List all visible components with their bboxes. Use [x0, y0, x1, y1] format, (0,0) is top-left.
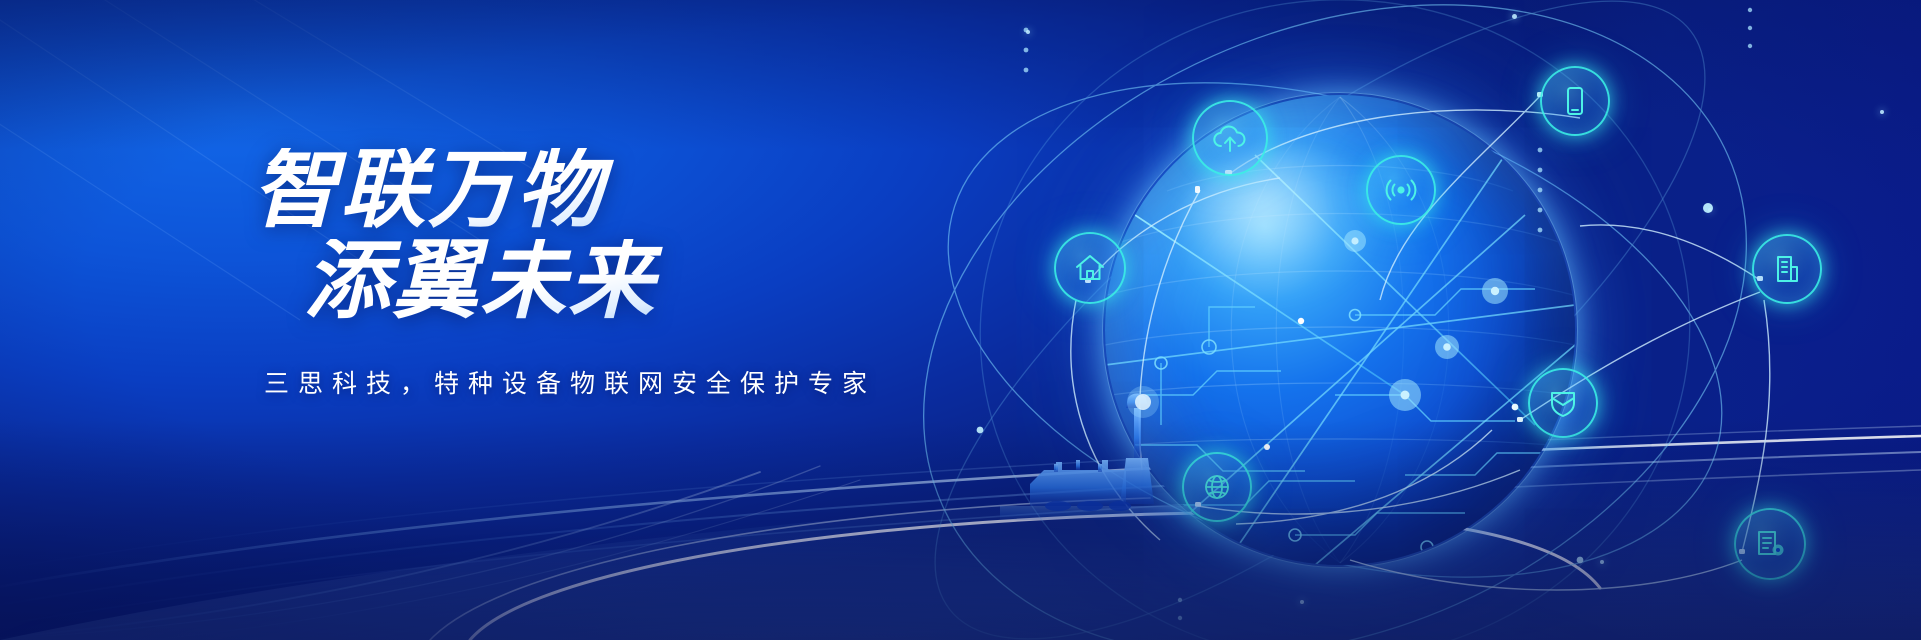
background-bottom-shade — [0, 420, 1921, 640]
headline-line-2: 添翼未来 — [304, 239, 1012, 324]
cloud-upload-icon — [1210, 118, 1250, 158]
building-icon — [1770, 252, 1804, 286]
sparkle-dot — [1026, 30, 1030, 34]
node-wifi[interactable] — [1366, 155, 1436, 225]
node-home[interactable] — [1054, 232, 1126, 304]
node-building[interactable] — [1752, 234, 1822, 304]
sparkle-dot — [1512, 14, 1517, 19]
node-mobile[interactable] — [1540, 66, 1610, 136]
wifi-signal-icon — [1383, 172, 1419, 208]
mobile-phone-icon — [1558, 84, 1592, 118]
sparkle-dot — [1880, 110, 1884, 114]
sparkle-dot — [1708, 208, 1712, 212]
headline-line-1: 智联万物 — [252, 148, 1012, 233]
headline-block: 智联万物 添翼未来 三思科技，特种设备物联网安全保护专家 — [252, 148, 1012, 400]
node-cloud-upload[interactable] — [1192, 100, 1268, 176]
home-icon — [1072, 250, 1108, 286]
shield-icon — [1546, 386, 1580, 420]
banner-root: 智联万物 添翼未来 三思科技，特种设备物联网安全保护专家 — [0, 0, 1921, 640]
banner-subtitle: 三思科技，特种设备物联网安全保护专家 — [264, 364, 1012, 400]
